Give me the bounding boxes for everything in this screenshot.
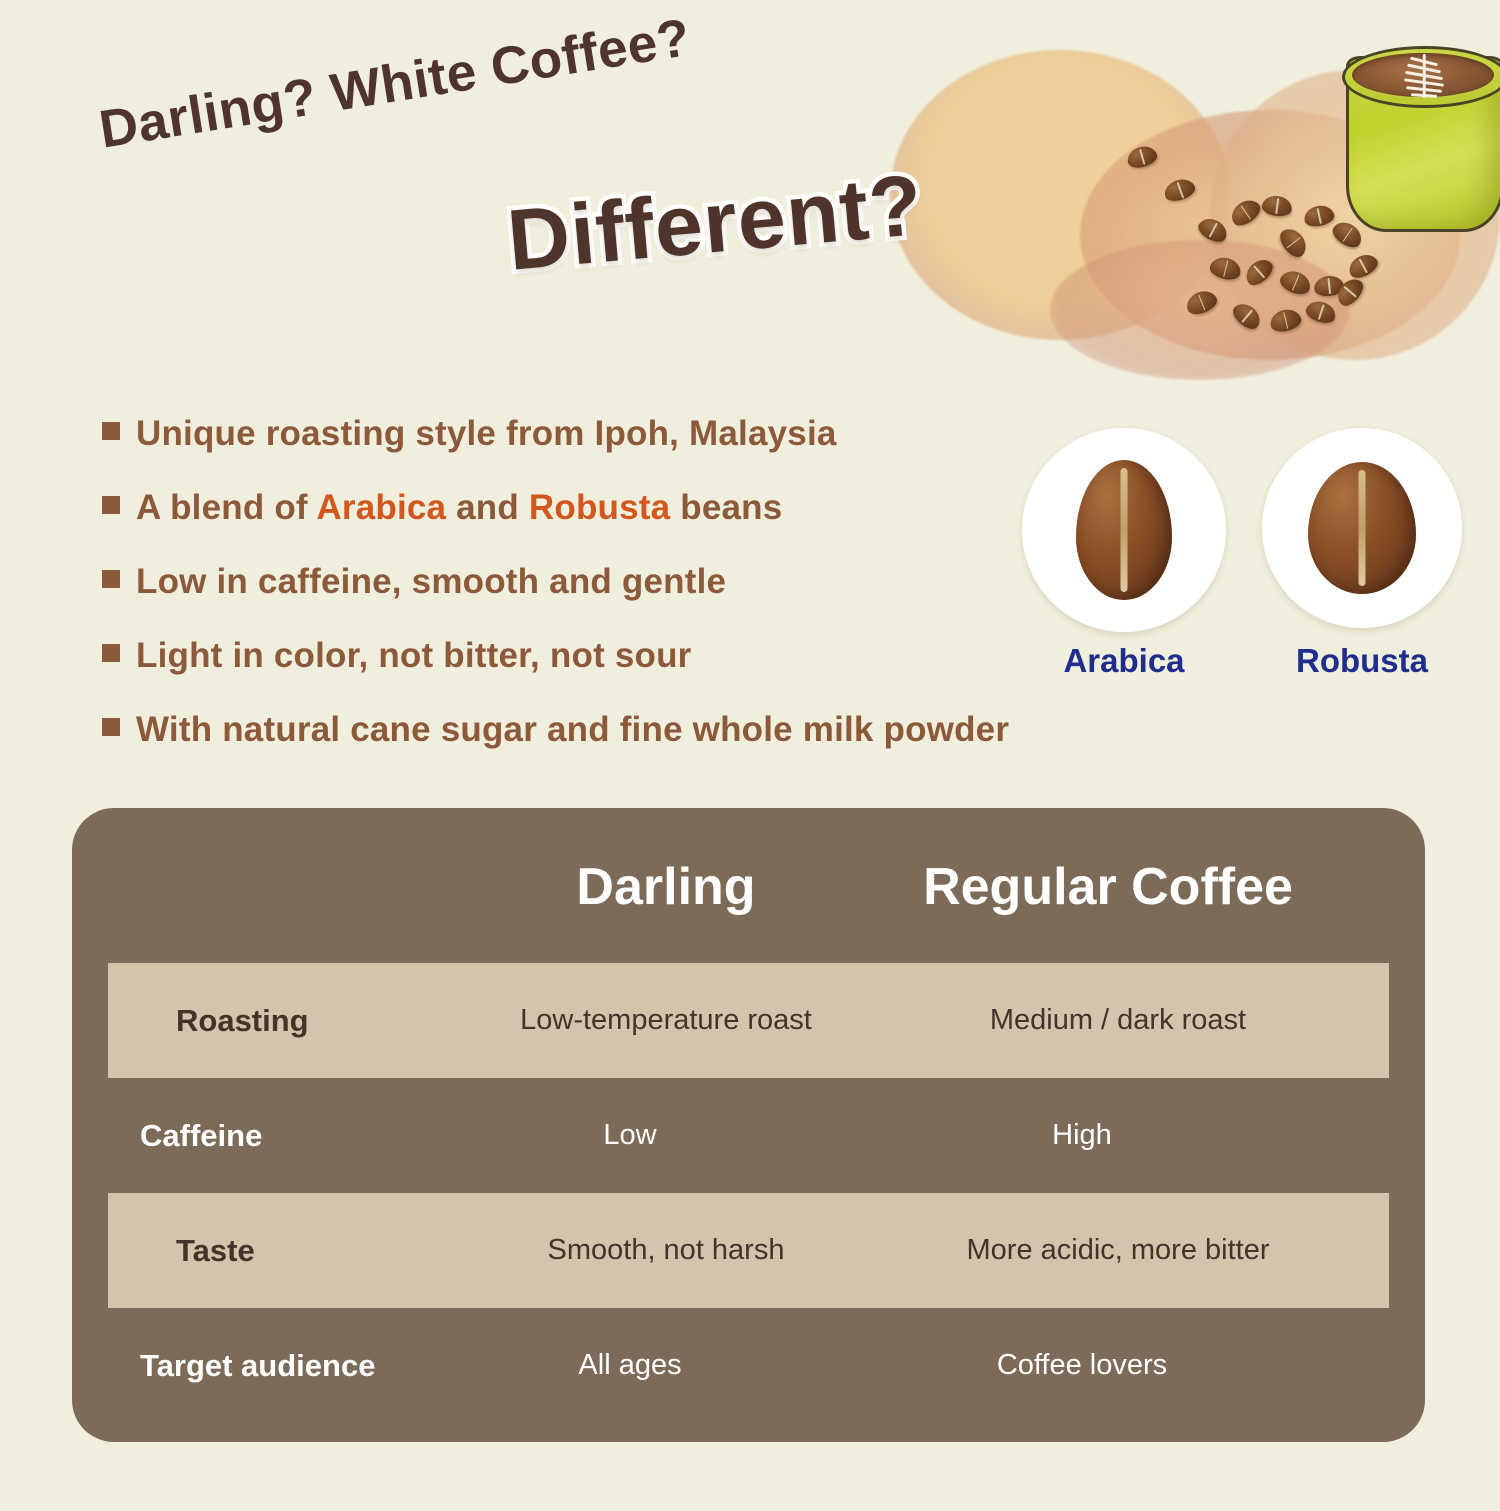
bullet-highlight-arabica: Arabica [316,488,446,527]
row-darling-taste: Smooth, not harsh [506,1193,826,1308]
row-label-taste: Taste [176,1193,506,1308]
comparison-table-panel: Darling Regular Coffee Roasting Low-temp… [72,808,1425,1442]
table-body: Roasting Low-temperature roast Medium / … [72,963,1425,1423]
row-darling-target-audience: All ages [470,1308,790,1423]
row-regular-roasting: Medium / dark roast [848,963,1388,1078]
infographic-canvas: Darling? White Coffee? Different? Unique… [0,0,1500,1511]
row-regular-caffeine: High [812,1078,1352,1193]
bullet-text-middle: and [446,488,529,527]
row-label-roasting: Roasting [176,963,506,1078]
list-item: With natural cane sugar and fine whole m… [102,708,1282,752]
bullet-square-icon [102,718,120,736]
bean-label-robusta: Robusta [1260,642,1464,680]
bullet-text-suffix: beans [670,488,782,527]
coffee-bean-icon [1308,462,1416,594]
latte-art-leaf-icon [1394,52,1454,100]
bullet-text-prefix: A blend of [136,488,316,527]
bullet-text: A blend of Arabica and Robusta beans [136,486,782,530]
row-regular-target-audience: Coffee lovers [812,1308,1352,1423]
bean-badge-arabica [1022,428,1226,632]
row-label-caffeine: Caffeine [140,1078,470,1193]
bullet-square-icon [102,496,120,514]
table-row: Caffeine Low High [72,1078,1425,1193]
bullet-square-icon [102,422,120,440]
bean-label-arabica: Arabica [1022,642,1226,680]
table-row: Target audience All ages Coffee lovers [72,1308,1425,1423]
bean-badge-robusta [1262,428,1462,628]
row-regular-taste: More acidic, more bitter [848,1193,1388,1308]
bullet-text: Unique roasting style from Ipoh, Malaysi… [136,412,837,456]
row-label-target-audience: Target audience [140,1308,470,1423]
bullet-square-icon [102,644,120,662]
table-row: Taste Smooth, not harsh More acidic, mor… [108,1193,1389,1308]
headline-line-2: Different? [504,156,927,291]
row-darling-caffeine: Low [470,1078,790,1193]
column-header-regular-coffee: Regular Coffee [858,850,1358,924]
bullet-text: Light in color, not bitter, not sour [136,634,692,678]
coffee-bean-icon [1076,460,1172,600]
column-header-darling: Darling [516,850,816,924]
row-darling-roasting: Low-temperature roast [506,963,826,1078]
table-row: Roasting Low-temperature roast Medium / … [108,963,1389,1078]
bullet-highlight-robusta: Robusta [529,488,670,527]
bullet-square-icon [102,570,120,588]
bullet-text: Low in caffeine, smooth and gentle [136,560,726,604]
coffee-cup-icon [1338,22,1500,237]
table-header-row: Darling Regular Coffee [72,850,1425,924]
headline-line-1: Darling? White Coffee? [95,7,694,161]
bullet-text: With natural cane sugar and fine whole m… [136,708,1009,752]
